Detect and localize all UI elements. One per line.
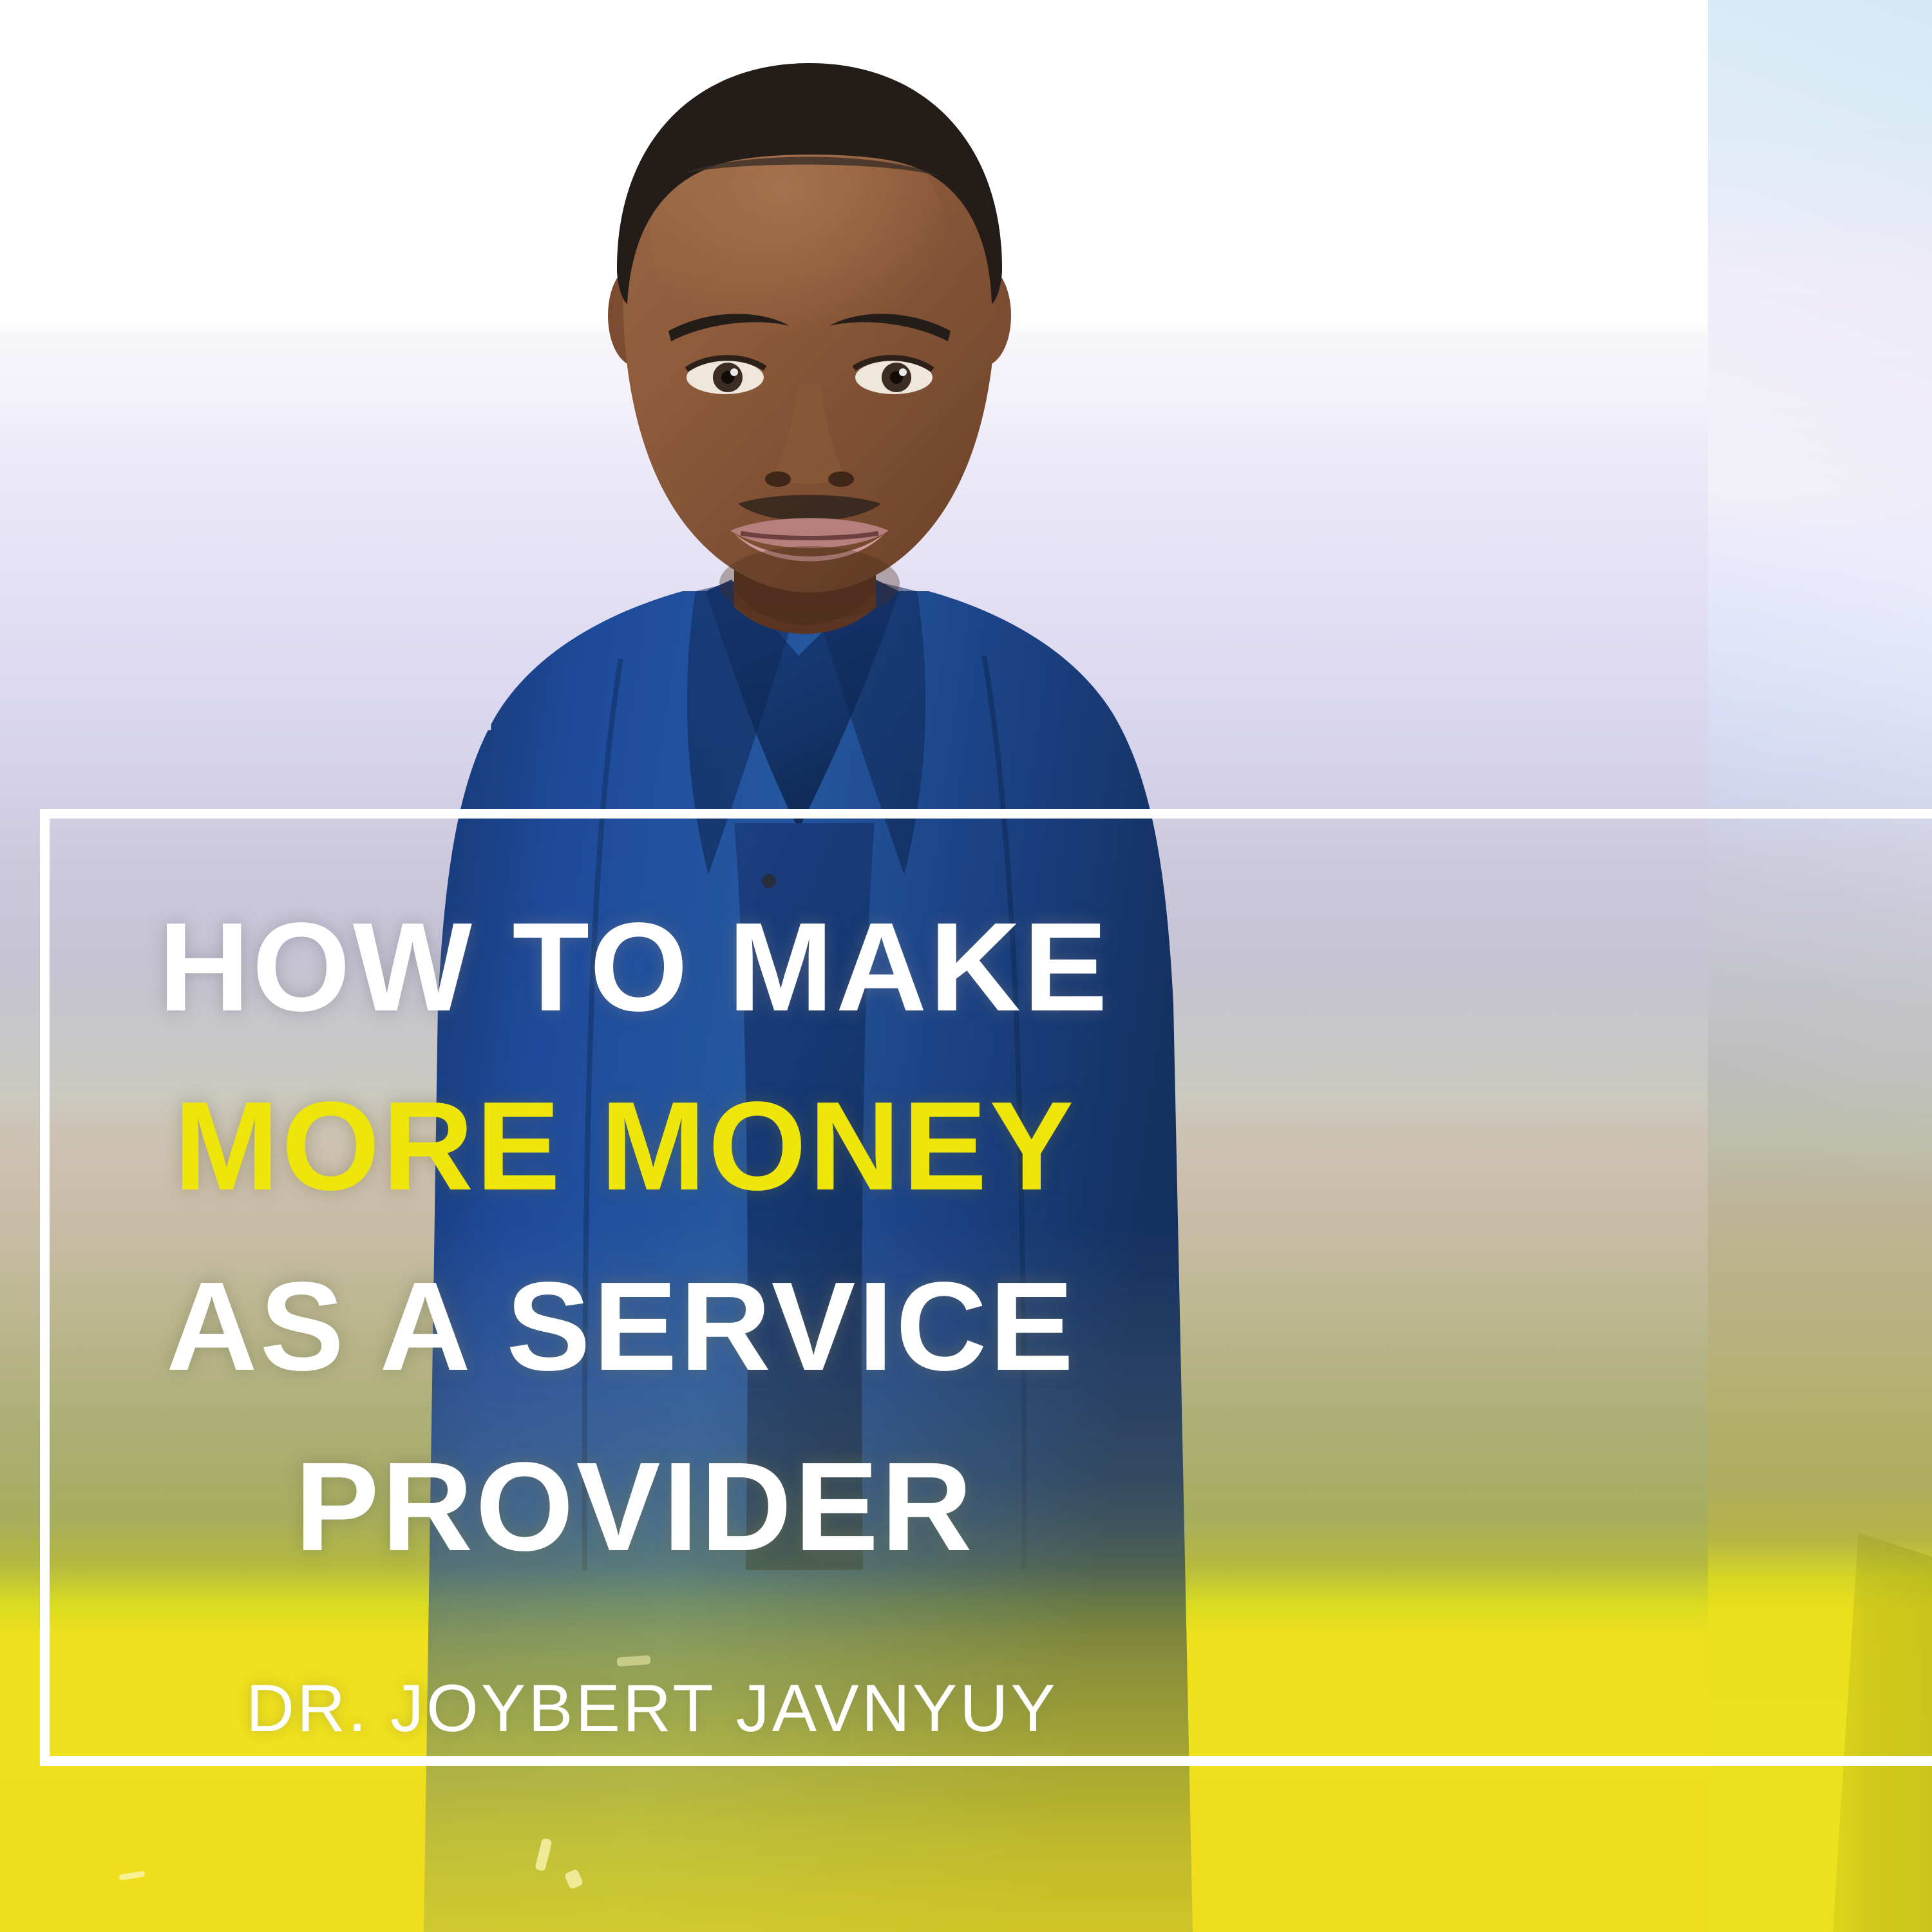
left-nostril [765, 471, 791, 487]
headline-line-2: MORE MONEY [174, 1083, 1076, 1209]
poster-canvas: HOW TO MAKE MORE MONEY AS A SERVICE PROV… [0, 0, 1932, 1932]
headline-line-4: PROVIDER [295, 1444, 975, 1570]
right-eye-catchlight [899, 368, 907, 376]
right-nostril [828, 471, 854, 487]
chin-shadow [719, 546, 900, 621]
speaker-name: DR. JOYBERT JAVNYUY [246, 1671, 1058, 1747]
headline-line-1: HOW TO MAKE [158, 904, 1110, 1030]
headline-line-3: AS A SERVICE [166, 1264, 1076, 1390]
left-eye-catchlight [730, 368, 738, 376]
